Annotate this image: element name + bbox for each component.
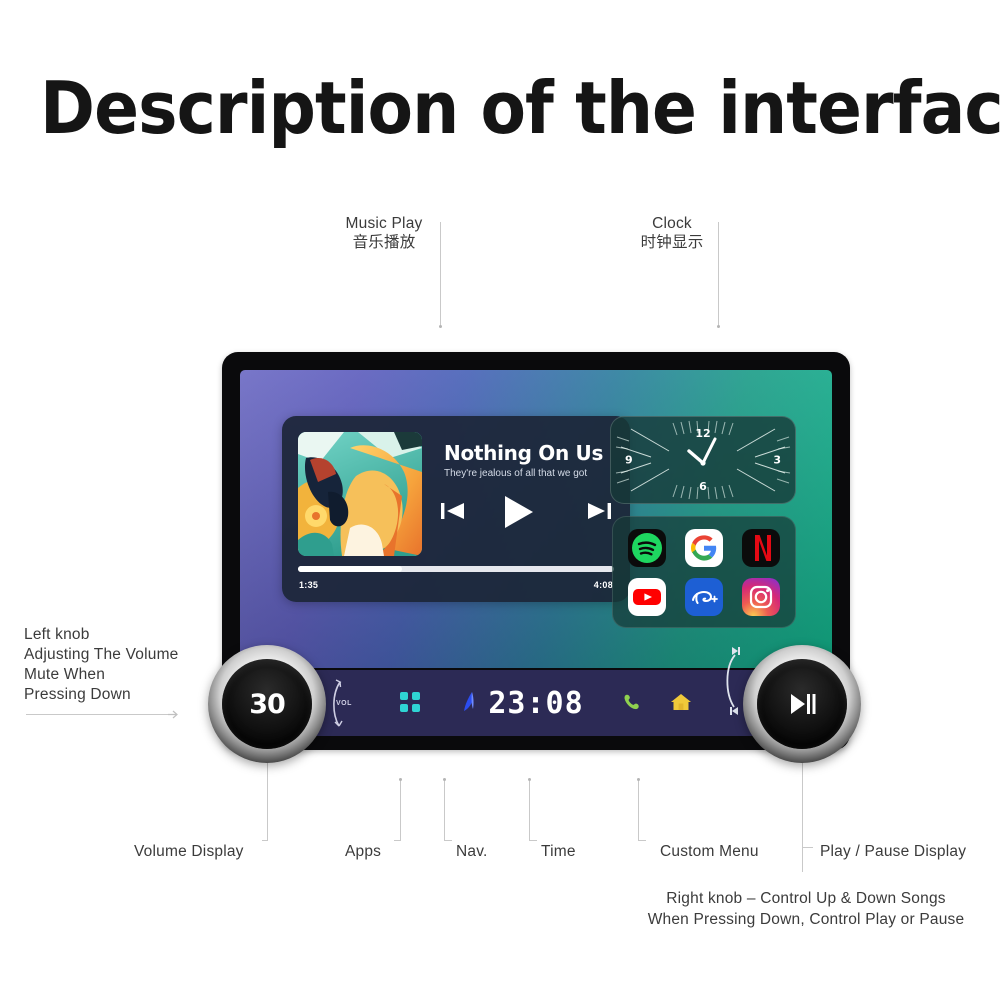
callout-time: Time — [541, 842, 576, 861]
app-icon-disney-plus[interactable] — [685, 578, 723, 616]
volume-knob[interactable]: 30 — [208, 645, 326, 763]
album-art — [298, 432, 422, 556]
leader-left-knob — [26, 714, 174, 715]
home-icon[interactable] — [670, 692, 692, 712]
callout-music-play-en: Music Play — [320, 214, 448, 233]
app-icon-google[interactable] — [685, 529, 723, 567]
track-title: Nothing On Us — [444, 441, 603, 465]
poster-canvas: Description of the interface Music Play … — [0, 0, 1000, 1000]
time-total: 4:08 — [594, 580, 613, 590]
next-track-icon[interactable] — [586, 500, 612, 522]
navigation-icon[interactable] — [458, 690, 480, 714]
play-pause-knob[interactable] — [743, 645, 861, 763]
leader-clock — [718, 222, 719, 326]
leader-dot-time — [528, 778, 531, 781]
leader-dot-music-play — [439, 325, 442, 328]
app-icon-youtube[interactable] — [628, 578, 666, 616]
leader-dot-nav — [443, 778, 446, 781]
callout-left-knob-line-2: Adjusting The Volume — [24, 645, 179, 665]
leader-play-pause-display — [802, 762, 803, 872]
callout-volume-display: Volume Display — [134, 842, 244, 861]
leader-custom-menu — [638, 780, 639, 840]
callout-music-play: Music Play 音乐播放 — [320, 214, 448, 252]
apps-grid-icon[interactable] — [400, 692, 420, 712]
app-icon-spotify[interactable] — [628, 529, 666, 567]
volume-knob-face: 30 — [222, 659, 312, 749]
callout-right-knob-line-1: Right knob – Control Up & Down Songs — [626, 888, 986, 909]
analog-clock-widget[interactable]: 12 3 6 9 — [610, 416, 796, 504]
play-pause-icon — [787, 691, 817, 717]
callout-music-play-cn: 音乐播放 — [320, 233, 448, 252]
callout-clock-cn: 时钟显示 — [610, 233, 734, 252]
phone-icon[interactable] — [622, 692, 642, 712]
app-grid-widget[interactable] — [612, 516, 796, 628]
playback-controls — [440, 494, 612, 538]
clock-numeral-6: 6 — [699, 480, 707, 493]
callout-left-knob-line-1: Left knob — [24, 625, 179, 645]
leader-volume-display-elbow — [262, 840, 268, 841]
leader-nav-elbow — [444, 840, 452, 841]
music-player-card[interactable]: Nothing On Us They're jealous of all tha… — [282, 416, 630, 602]
callout-right-knob-line-2: When Pressing Down, Control Play or Paus… — [626, 909, 986, 930]
callout-left-knob-line-3: Mute When — [24, 665, 179, 685]
app-icon-instagram[interactable] — [742, 578, 780, 616]
vol-label: VOL — [336, 700, 352, 707]
progress-fill — [298, 566, 402, 572]
callout-clock: Clock 时钟显示 — [610, 214, 734, 252]
leader-dot-apps — [399, 778, 402, 781]
callout-clock-en: Clock — [610, 214, 734, 233]
clock-numeral-12: 12 — [695, 427, 710, 440]
callout-apps: Apps — [345, 842, 381, 861]
leader-custom-menu-elbow — [638, 840, 646, 841]
digital-clock: 23:08 — [488, 686, 583, 721]
leader-time — [529, 780, 530, 840]
callout-left-knob: Left knob Adjusting The Volume Mute When… — [24, 625, 179, 705]
leader-apps-elbow — [394, 840, 401, 841]
leader-volume-display — [267, 762, 268, 840]
leader-time-elbow — [529, 840, 537, 841]
leader-music-play — [440, 222, 441, 326]
previous-track-icon[interactable] — [440, 500, 466, 522]
clock-numeral-9: 9 — [625, 454, 633, 467]
leader-apps — [400, 780, 401, 840]
page-title: Description of the interface — [40, 66, 960, 150]
app-icon-netflix[interactable] — [742, 529, 780, 567]
callout-right-knob: Right knob – Control Up & Down Songs Whe… — [626, 888, 986, 930]
track-subtitle: They're jealous of all that we got — [444, 468, 587, 479]
time-elapsed: 1:35 — [299, 580, 318, 590]
leader-dot-custom-menu — [637, 778, 640, 781]
volume-value: 30 — [249, 689, 285, 720]
leader-dot-clock — [717, 325, 720, 328]
callout-left-knob-line-4: Pressing Down — [24, 685, 179, 705]
callout-custom-menu: Custom Menu — [660, 842, 759, 861]
leader-nav — [444, 780, 445, 840]
play-pause-knob-face — [757, 659, 847, 749]
callout-play-pause-display: Play / Pause Display — [820, 842, 966, 861]
progress-bar[interactable] — [298, 566, 614, 572]
callout-nav: Nav. — [456, 842, 488, 861]
leader-play-pause-elbow — [803, 847, 813, 848]
leader-arrow-left-knob — [168, 709, 180, 720]
clock-numeral-3: 3 — [773, 454, 781, 467]
touchscreen[interactable]: Nothing On Us They're jealous of all tha… — [240, 370, 832, 668]
play-icon[interactable] — [502, 494, 536, 530]
